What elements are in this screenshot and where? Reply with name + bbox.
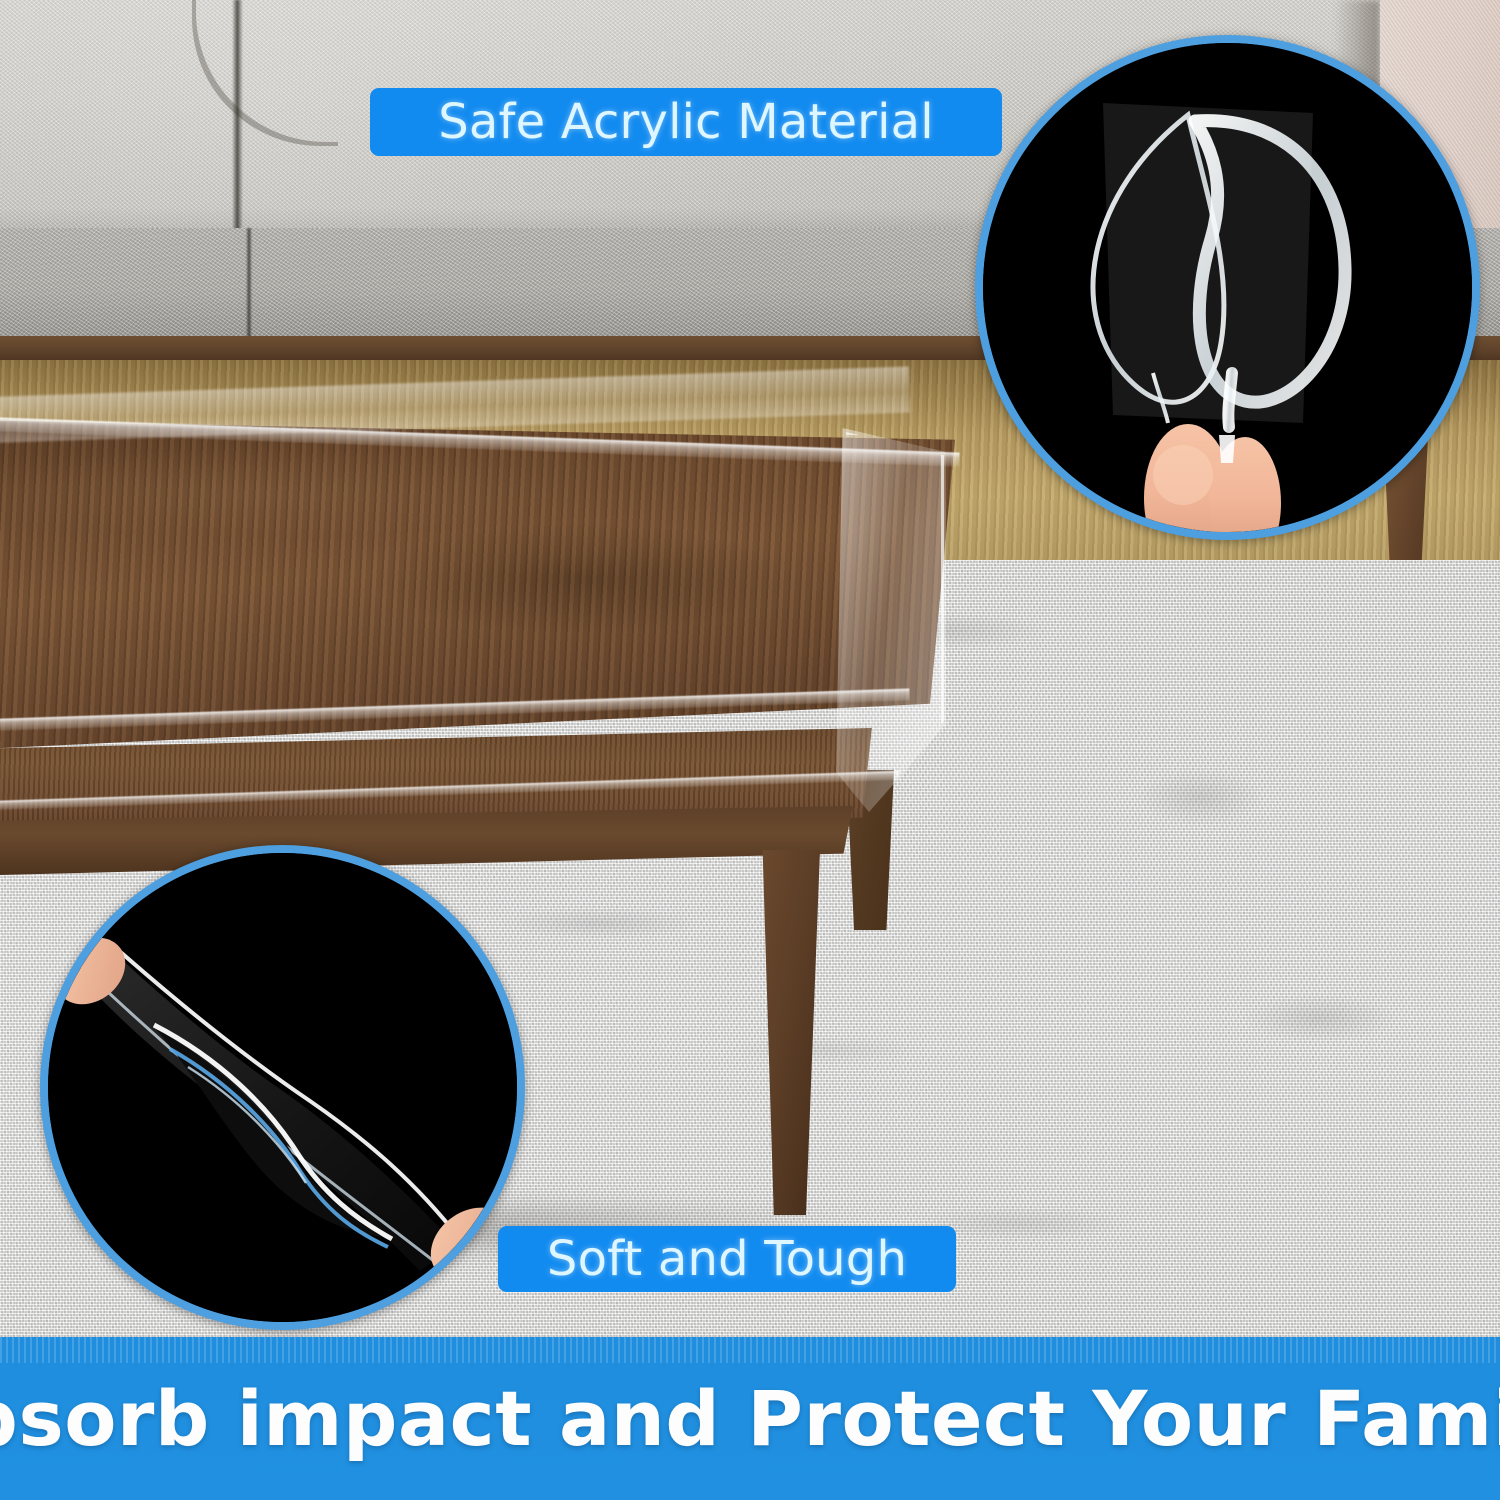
inset-acrylic-strip-loops	[975, 35, 1480, 540]
acrylic-edge-guard-corner-highlight	[840, 432, 944, 822]
acrylic-flex-illustration	[48, 853, 517, 1322]
sofa-cushion-seam	[232, 0, 243, 236]
badge-safe-acrylic-material: Safe Acrylic Material	[370, 88, 1002, 156]
product-image: Safe Acrylic Material Soft and Tough Abs…	[0, 0, 1500, 1500]
sofa-seat-seam	[246, 228, 252, 340]
banner-headline: Absorb impact and Protect Your Family	[0, 1374, 1500, 1463]
table-leg-right	[750, 850, 820, 1215]
inset-acrylic-strip-flexing	[40, 845, 525, 1330]
acrylic-loops-illustration	[983, 43, 1472, 532]
bottom-banner: Absorb impact and Protect Your Family	[0, 1337, 1500, 1500]
badge-soft-and-tough: Soft and Tough	[498, 1226, 956, 1292]
